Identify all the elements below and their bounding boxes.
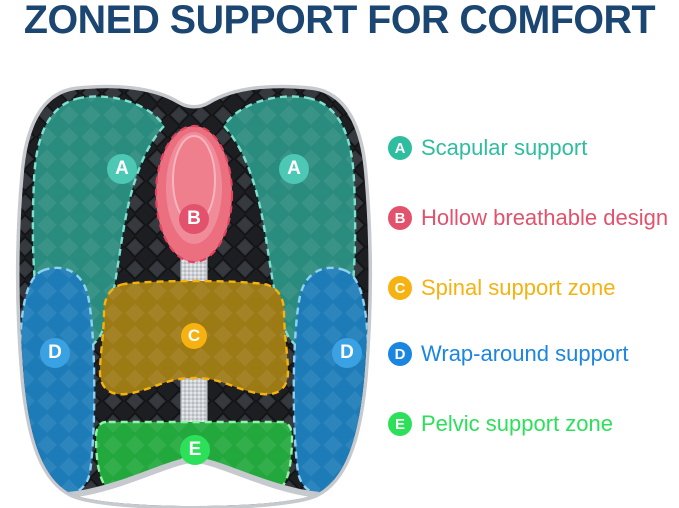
- legend-label-a: Scapular support: [421, 136, 587, 160]
- zone-b: [156, 126, 232, 262]
- zone-d-right-texture: [294, 268, 368, 495]
- legend-item-e[interactable]: E Pelvic support zone: [388, 408, 613, 440]
- legend-item-a[interactable]: A Scapular support: [388, 132, 587, 164]
- zone-badge-e: E: [180, 435, 210, 465]
- legend-badge-a-icon: A: [388, 136, 412, 160]
- legend-badge-b-icon: B: [388, 206, 412, 230]
- zone-badge-a-left: A: [107, 154, 137, 184]
- legend-label-c: Spinal support zone: [421, 276, 615, 300]
- legend-item-c[interactable]: C Spinal support zone: [388, 272, 615, 304]
- legend-item-d[interactable]: D Wrap-around support: [388, 338, 629, 370]
- zone-badge-b: B: [179, 204, 209, 234]
- legend-badge-d-icon: D: [388, 342, 412, 366]
- legend-label-b: Hollow breathable design: [421, 206, 668, 230]
- product-illustration: A A B C D D E: [14, 60, 374, 508]
- legend-badge-e-icon: E: [388, 412, 412, 436]
- legend-badge-c-icon: C: [388, 276, 412, 300]
- legend-label-d: Wrap-around support: [421, 342, 629, 366]
- legend-label-e: Pelvic support zone: [421, 412, 613, 436]
- zone-d-left-texture: [20, 268, 94, 495]
- page-title: ZONED SUPPORT FOR COMFORT: [5, 0, 674, 42]
- zone-badge-d-left: D: [40, 338, 70, 368]
- zone-d-right: [294, 268, 368, 495]
- zone-badge-d-right: D: [332, 338, 362, 368]
- zone-badge-c: C: [181, 323, 207, 349]
- zone-badge-a-right: A: [279, 154, 309, 184]
- zone-d-left: [20, 268, 94, 495]
- legend-item-b[interactable]: B Hollow breathable design: [388, 202, 668, 234]
